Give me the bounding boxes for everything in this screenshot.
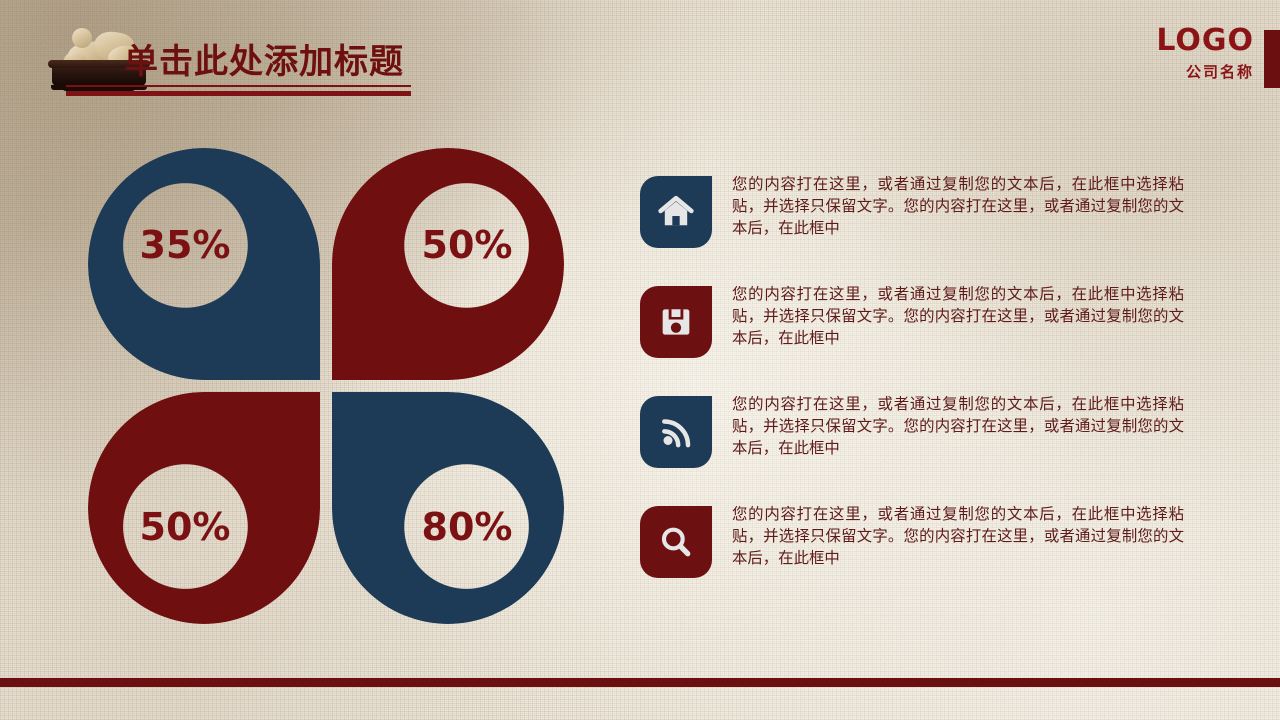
chart-petal-bottom-left[interactable]: 50% [88,392,320,624]
rss-icon[interactable] [640,396,712,468]
home-icon[interactable] [640,176,712,248]
title-underline-thin [66,85,411,87]
list-item-text: 您的内容打在这里，或者通过复制您的文本后，在此框中选择粘贴，并选择只保留文字。您… [732,394,1184,460]
company-name: 公司名称 [1156,61,1254,82]
list-item-text: 您的内容打在这里，或者通过复制您的文本后，在此框中选择粘贴，并选择只保留文字。您… [732,284,1184,350]
list-item[interactable]: 您的内容打在这里，或者通过复制您的文本后，在此框中选择粘贴，并选择只保留文字。您… [640,176,1210,286]
chart-petal-bottom-right[interactable]: 80% [332,392,564,624]
content-list: 您的内容打在这里，或者通过复制您的文本后，在此框中选择粘贴，并选择只保留文字。您… [640,176,1210,616]
chart-petal-top-left[interactable]: 35% [88,148,320,380]
save-floppy-icon[interactable] [640,286,712,358]
list-item-text: 您的内容打在这里，或者通过复制您的文本后，在此框中选择粘贴，并选择只保留文字。您… [732,504,1184,570]
petal-value-label: 50% [123,465,247,589]
pinwheel-donut-chart: 35% 50% 50% 80% [88,148,564,624]
petal-value-label: 50% [405,183,529,307]
list-item[interactable]: 您的内容打在这里，或者通过复制您的文本后，在此框中选择粘贴，并选择只保留文字。您… [640,286,1210,396]
slide-canvas: 单击此处添加标题 LOGO 公司名称 35% 50% 50% 80% [0,0,1280,720]
list-item[interactable]: 您的内容打在这里，或者通过复制您的文本后，在此框中选择粘贴，并选择只保留文字。您… [640,396,1210,506]
logo-block: LOGO 公司名称 [1156,26,1254,82]
petal-value-label: 80% [405,465,529,589]
list-item-text: 您的内容打在这里，或者通过复制您的文本后，在此框中选择粘贴，并选择只保留文字。您… [732,174,1184,240]
title-underline-thick [66,91,411,96]
page-title: 单击此处添加标题 [124,34,404,83]
petal-value-label: 35% [123,183,247,307]
footer-accent-bar [0,678,1280,687]
chart-petal-top-right[interactable]: 50% [332,148,564,380]
logo-text: LOGO [1156,26,1254,56]
list-item[interactable]: 您的内容打在这里，或者通过复制您的文本后，在此框中选择粘贴，并选择只保留文字。您… [640,506,1210,616]
logo-accent-bar [1264,30,1280,88]
search-icon[interactable] [640,506,712,578]
slide-header: 单击此处添加标题 LOGO 公司名称 [0,0,1280,110]
